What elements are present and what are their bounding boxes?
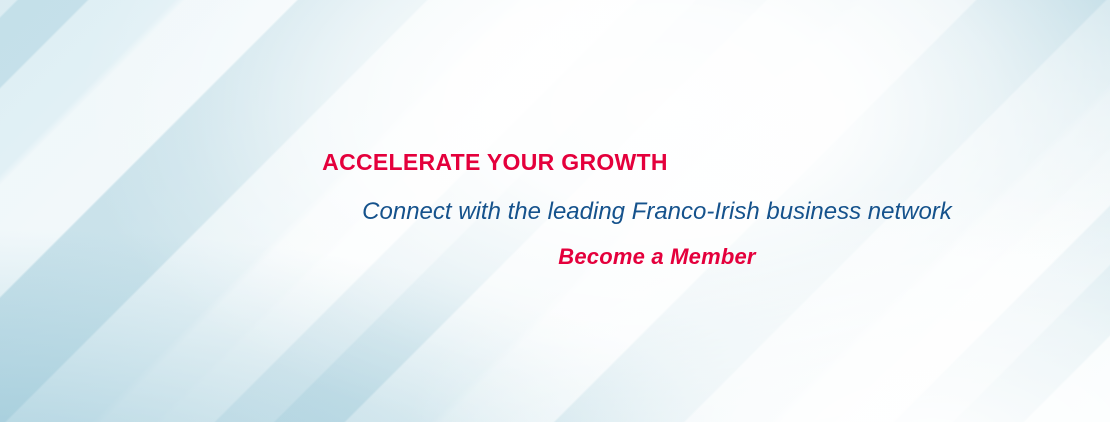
become-a-member-link[interactable]: Become a Member (558, 244, 755, 270)
banner-headline: ACCELERATE YOUR GROWTH (0, 150, 990, 175)
banner-content: ACCELERATE YOUR GROWTH Connect with the … (0, 0, 1110, 422)
banner-cta-row: Become a Member (0, 244, 1110, 270)
promo-banner: ACCELERATE YOUR GROWTH Connect with the … (0, 0, 1110, 422)
banner-subheadline: Connect with the leading Franco-Irish bu… (0, 198, 1110, 227)
